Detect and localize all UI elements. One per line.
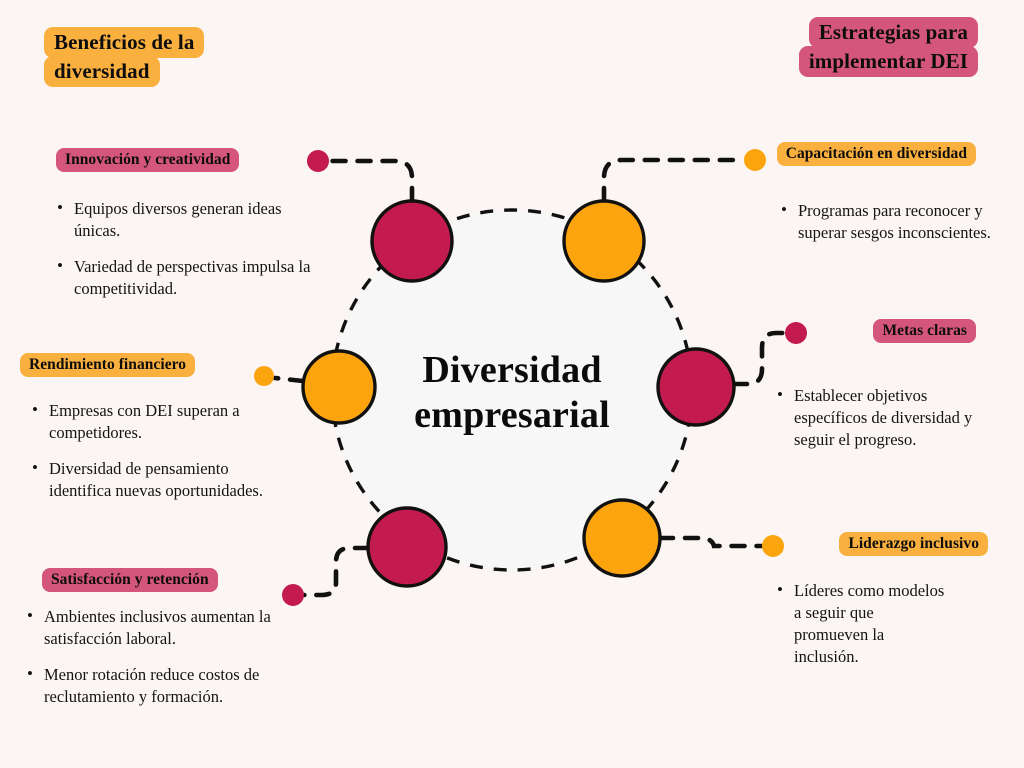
list-item: Ambientes inclusivos aumentan la satisfa… [25, 606, 295, 650]
center-title: Diversidad empresarial [362, 348, 662, 438]
label-rendimiento: Rendimiento financiero [20, 355, 270, 375]
list-item: Menor rotación reduce costos de reclutam… [25, 664, 295, 708]
bullets-capacitacion: Programas para reconocer y superar sesgo… [779, 200, 995, 244]
list-item: Variedad de perspectivas impulsa la comp… [55, 256, 311, 300]
heading-left-text: Beneficios de la diversidad [44, 27, 204, 87]
center-title-line2: empresarial [362, 393, 662, 438]
center-title-line1: Diversidad [362, 348, 662, 393]
connector-liderazgo [660, 538, 762, 546]
label-innovacion-text: Innovación y creatividad [56, 148, 239, 172]
list-item: Equipos diversos generan ideas únicas. [55, 198, 311, 242]
node-liderazgo [584, 500, 660, 576]
label-liderazgo: Liderazgo inclusivo [760, 534, 988, 554]
node-capacitacion [564, 201, 644, 281]
label-capacitacion-text: Capacitación en diversidad [777, 142, 976, 166]
heading-left: Beneficios de la diversidad [44, 28, 244, 85]
heading-right-text: Estrategias para implementar DEI [799, 17, 978, 77]
list-item: Empresas con DEI superan a competidores. [30, 400, 292, 444]
connector-satisfaccion [304, 548, 368, 595]
label-liderazgo-text: Liderazgo inclusivo [839, 532, 988, 556]
bullets-rendimiento: Empresas con DEI superan a competidores.… [30, 400, 292, 502]
connector-rendimiento [275, 378, 303, 381]
list-item: Diversidad de pensamiento identifica nue… [30, 458, 292, 502]
heading-right: Estrategias para implementar DEI [740, 18, 978, 75]
bullets-innovacion: Equipos diversos generan ideas únicas. V… [55, 198, 311, 300]
node-metas [658, 349, 734, 425]
label-satisfaccion: Satisfacción y retención [42, 570, 292, 590]
node-satisfaccion [368, 508, 446, 586]
list-item: Programas para reconocer y superar sesgo… [779, 200, 995, 244]
label-metas: Metas claras [760, 321, 976, 341]
label-rendimiento-text: Rendimiento financiero [20, 353, 195, 377]
connector-innovacion [329, 161, 412, 201]
infographic-canvas: Diversidad empresarial Beneficios de la … [0, 0, 1024, 768]
list-item: Establecer objetivos específicos de dive… [775, 385, 1001, 451]
bullets-metas: Establecer objetivos específicos de dive… [775, 385, 1001, 451]
dot-innovacion-icon [307, 150, 329, 172]
label-capacitacion: Capacitación en diversidad [760, 144, 976, 164]
list-item: Líderes como modelos a seguir que promue… [775, 580, 947, 668]
bullets-satisfaccion: Ambientes inclusivos aumentan la satisfa… [25, 606, 295, 708]
label-satisfaccion-text: Satisfacción y retención [42, 568, 218, 592]
label-innovacion: Innovación y creatividad [56, 150, 306, 170]
node-innovacion [372, 201, 452, 281]
label-metas-text: Metas claras [873, 319, 976, 343]
connector-capacitacion [604, 160, 744, 201]
bullets-liderazgo: Líderes como modelos a seguir que promue… [775, 580, 947, 668]
